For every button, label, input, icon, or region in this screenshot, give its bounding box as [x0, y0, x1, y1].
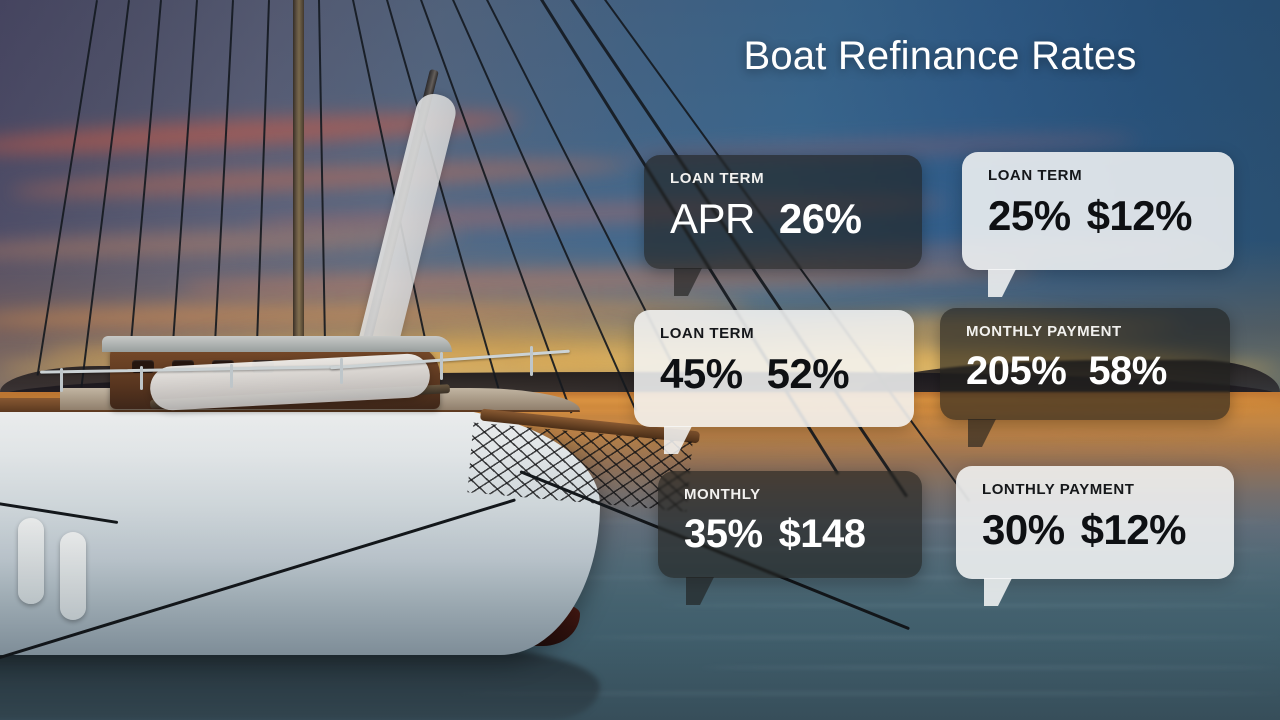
water-reflection-streak — [640, 446, 1280, 451]
rate-card-primary-value: 30% — [982, 509, 1065, 551]
speech-bubble-tail — [968, 419, 996, 447]
rate-card-label: MONTHLY — [684, 487, 900, 502]
page-title: Boat Refinance Rates — [640, 34, 1240, 79]
rate-card-secondary-value: $148 — [779, 514, 866, 554]
rate-card-label: MONTHLY PAYMENT — [966, 324, 1208, 339]
rate-card-label: LOAN TERM — [988, 168, 1212, 183]
stanchion — [530, 346, 533, 376]
stanchion — [440, 352, 443, 380]
rate-card-primary-value: 45% — [660, 353, 743, 395]
fender — [60, 532, 86, 620]
slide-canvas: Boat Refinance Rates LOAN TERM APR 26% L… — [0, 0, 1280, 720]
rate-card-values: 45% 52% — [660, 353, 892, 395]
rate-card-primary-value: APR — [670, 198, 755, 240]
stanchion — [140, 366, 143, 390]
speech-bubble-tail — [664, 426, 692, 454]
water-ripple — [700, 666, 1280, 669]
speech-bubble-tail — [674, 268, 702, 296]
rate-card-values: 35% $148 — [684, 514, 900, 554]
rate-card-primary-value: 35% — [684, 514, 763, 554]
rigging-line — [452, 0, 637, 411]
rate-card-monthly-payment[interactable]: MONTHLY PAYMENT 205% 58% — [940, 308, 1230, 420]
speech-bubble-tail — [988, 269, 1016, 297]
rate-card-secondary-value: 58% — [1088, 351, 1167, 391]
rate-card-loan-term[interactable]: LOAN TERM 25% $12% — [962, 152, 1234, 270]
rate-card-secondary-value: 26% — [779, 198, 862, 240]
rate-card-primary-value: 205% — [966, 351, 1066, 391]
rate-card-apr[interactable]: LOAN TERM APR 26% — [644, 155, 922, 269]
stanchion — [230, 364, 233, 388]
fender — [18, 518, 44, 604]
rate-card-secondary-value: $12% — [1081, 509, 1186, 551]
rate-card-lonthly-payment[interactable]: LONTHLY PAYMENT 30% $12% — [956, 466, 1234, 579]
rate-card-label: LOAN TERM — [670, 171, 900, 186]
rate-card-secondary-value: $12% — [1087, 195, 1192, 237]
rate-card-monthly[interactable]: MONTHLY 35% $148 — [658, 471, 922, 578]
rate-card-loan-term-percent[interactable]: LOAN TERM 45% 52% — [634, 310, 914, 427]
stanchion — [340, 358, 343, 384]
rate-card-values: 25% $12% — [988, 195, 1212, 237]
rate-card-values: 205% 58% — [966, 351, 1208, 391]
speech-bubble-tail — [984, 578, 1012, 606]
rate-card-secondary-value: 52% — [767, 353, 850, 395]
rate-card-primary-value: 25% — [988, 195, 1071, 237]
stanchion — [60, 368, 63, 392]
hull-reflection — [0, 645, 600, 720]
rate-card-values: 30% $12% — [982, 509, 1212, 551]
sailboat — [0, 0, 700, 720]
rate-card-label: LONTHLY PAYMENT — [982, 482, 1212, 497]
water-ripple — [660, 604, 1280, 607]
speech-bubble-tail — [686, 577, 714, 605]
rate-card-label: LOAN TERM — [660, 326, 892, 341]
rate-card-values: APR 26% — [670, 198, 900, 240]
cabin-roof — [102, 336, 452, 352]
